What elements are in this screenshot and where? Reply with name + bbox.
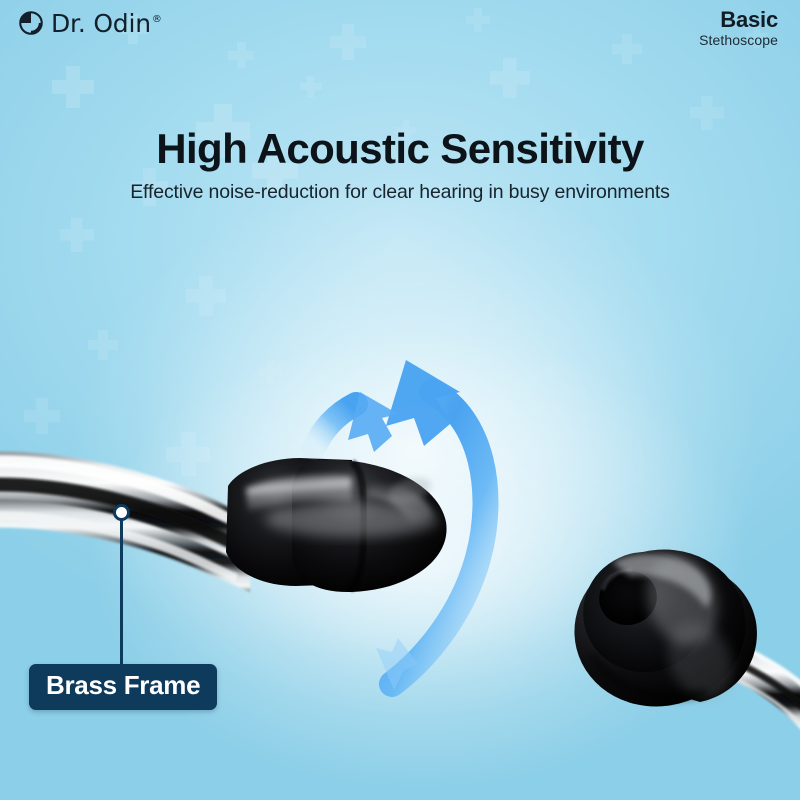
brand-name: Dr. Odin® bbox=[51, 11, 162, 36]
headline-block: High Acoustic Sensitivity Effective nois… bbox=[0, 126, 800, 204]
dr-odin-circle-logo-icon bbox=[18, 10, 44, 36]
brand-logo: Dr. Odin® bbox=[18, 10, 162, 36]
callout-leader-line-icon bbox=[120, 518, 123, 666]
brand-name-text: Dr. Odin bbox=[51, 9, 151, 38]
callout-label-badge: Brass Frame bbox=[29, 664, 217, 710]
product-model-name: Basic bbox=[699, 8, 778, 31]
headline-subtitle: Effective noise-reduction for clear hear… bbox=[0, 181, 800, 204]
product-model-type: Stethoscope bbox=[699, 31, 778, 49]
product-feature-poster: Dr. Odin® Basic Stethoscope High Acousti… bbox=[0, 0, 800, 800]
product-model-block: Basic Stethoscope bbox=[699, 8, 778, 49]
headline-title: High Acoustic Sensitivity bbox=[0, 126, 800, 172]
registered-trademark-icon: ® bbox=[152, 14, 162, 25]
stethoscope-eartip-side-view bbox=[226, 458, 447, 592]
callout-dot-icon bbox=[113, 504, 130, 521]
